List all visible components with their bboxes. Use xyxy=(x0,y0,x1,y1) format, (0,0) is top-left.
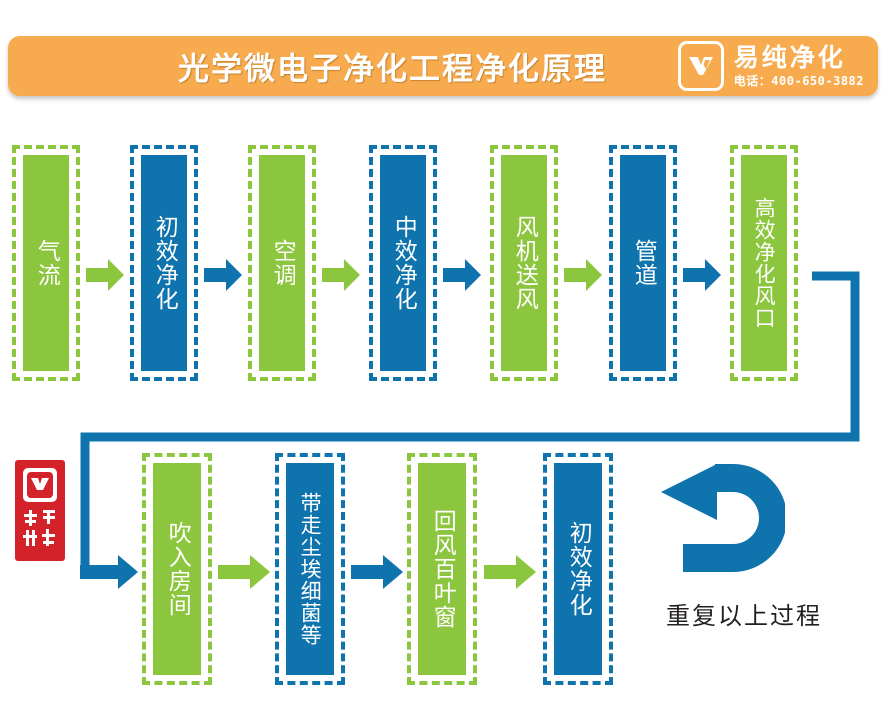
box-fill: 空调 xyxy=(259,155,305,371)
brand-block: 易纯净化 电话：400-650-3882 xyxy=(678,41,864,91)
arrow-blue-1 xyxy=(204,258,242,292)
flow-box-label: 空调 xyxy=(270,239,294,287)
yichun-v-mark-icon xyxy=(678,41,724,91)
flow-box-qiliu[interactable]: 气流 xyxy=(12,145,80,381)
box-fill: 高效净化风口 xyxy=(741,155,787,371)
arrow-green-5 xyxy=(484,553,536,591)
flow-box-chuxiao-jinghua-1[interactable]: 初效净化 xyxy=(130,145,198,381)
box-fill: 管道 xyxy=(620,155,666,371)
arrow-green-2 xyxy=(322,258,360,292)
page-title: 光学微电子净化工程净化原理 xyxy=(178,44,607,89)
flow-box-label: 吹入房间 xyxy=(165,521,189,617)
flow-box-label: 管道 xyxy=(631,239,655,287)
header-banner: 光学微电子净化工程净化原理 易纯净化 电话：400-650-3882 xyxy=(8,36,878,96)
arrow-green-1 xyxy=(86,258,124,292)
arrow-blue-3 xyxy=(683,258,721,292)
arrow-blue-4 xyxy=(351,553,403,591)
arrow-green-4 xyxy=(218,553,270,591)
flow-box-kongtiao[interactable]: 空调 xyxy=(248,145,316,381)
flow-box-label: 气流 xyxy=(34,239,58,287)
flow-box-gaoxiao-jinghua-fengkou[interactable]: 高效净化风口 xyxy=(730,145,798,381)
arrow-blue-entry xyxy=(80,553,138,591)
flow-box-huifeng-baiyechuang[interactable]: 回风百叶窗 xyxy=(407,453,477,685)
flow-box-guandao[interactable]: 管道 xyxy=(609,145,677,381)
flow-box-label: 高效净化风口 xyxy=(753,197,775,329)
box-fill: 初效净化 xyxy=(141,155,187,371)
flow-box-zhongxiao-jinghua[interactable]: 中效净化 xyxy=(369,145,437,381)
flow-box-fengji-songfeng[interactable]: 风机送风 xyxy=(490,145,558,381)
flow-box-chuiru-fangjian[interactable]: 吹入房间 xyxy=(142,453,212,685)
brand-name: 易纯净化 xyxy=(734,45,846,70)
flow-box-label: 风机送风 xyxy=(512,215,536,311)
flow-box-label: 回风百叶窗 xyxy=(430,509,454,629)
flow-box-label: 中效净化 xyxy=(391,215,415,311)
brand-text: 易纯净化 电话：400-650-3882 xyxy=(734,45,864,87)
flow-box-chuxiao-jinghua-2[interactable]: 初效净化 xyxy=(543,453,613,685)
box-fill: 吹入房间 xyxy=(153,463,201,675)
box-fill: 风机送风 xyxy=(501,155,547,371)
red-seal-stamp-icon xyxy=(14,458,66,563)
arrow-green-3 xyxy=(564,258,602,292)
box-fill: 回风百叶窗 xyxy=(418,463,466,675)
arrow-blue-2 xyxy=(443,258,481,292)
box-fill: 中效净化 xyxy=(380,155,426,371)
u-turn-left-arrow-icon xyxy=(655,462,785,577)
flow-box-label: 初效净化 xyxy=(566,521,590,617)
flow-box-label: 初效净化 xyxy=(152,215,176,311)
flow-box-label: 带走尘埃细菌等 xyxy=(299,492,321,646)
box-fill: 带走尘埃细菌等 xyxy=(286,463,334,675)
box-fill: 初效净化 xyxy=(554,463,602,675)
repeat-process-note: 重复以上过程 xyxy=(666,596,822,631)
brand-phone: 电话：400-650-3882 xyxy=(734,75,864,87)
box-fill: 气流 xyxy=(23,155,69,371)
flow-box-daizou-chenai-xijun[interactable]: 带走尘埃细菌等 xyxy=(275,453,345,685)
